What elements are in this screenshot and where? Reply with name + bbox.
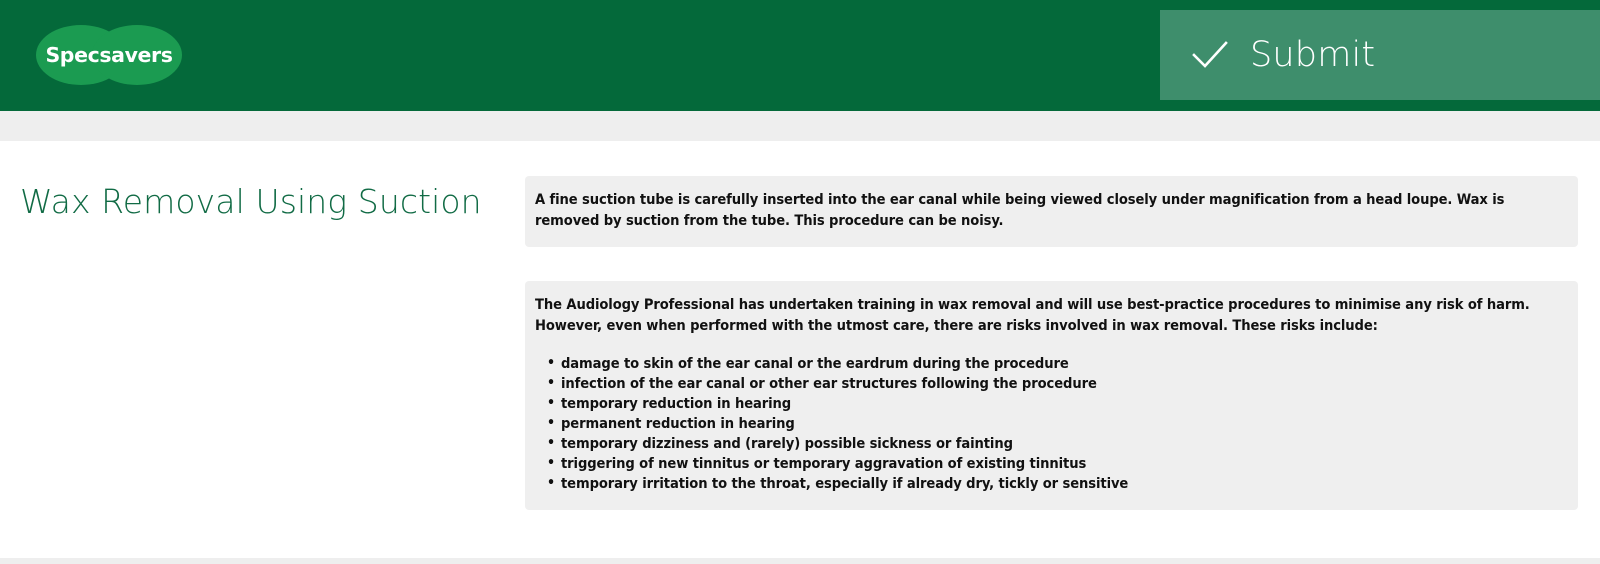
info-panels: A fine suction tube is carefully inserte… bbox=[525, 176, 1578, 510]
main-content: Wax Removal Using Suction A fine suction… bbox=[0, 141, 1600, 558]
specsavers-logo: Specsavers bbox=[36, 25, 182, 85]
list-item: damage to skin of the ear canal or the e… bbox=[561, 354, 1562, 374]
list-item: permanent reduction in hearing bbox=[561, 414, 1562, 434]
list-item: temporary dizziness and (rarely) possibl… bbox=[561, 434, 1562, 454]
risks-box: The Audiology Professional has undertake… bbox=[525, 281, 1578, 509]
list-item: triggering of new tinnitus or temporary … bbox=[561, 454, 1562, 474]
check-icon bbox=[1188, 33, 1232, 77]
logo-wordmark: Specsavers bbox=[36, 25, 182, 85]
list-item: infection of the ear canal or other ear … bbox=[561, 374, 1562, 394]
submit-button[interactable]: Submit bbox=[1160, 10, 1600, 100]
list-item: temporary reduction in hearing bbox=[561, 394, 1562, 414]
footer-strip bbox=[0, 558, 1600, 564]
subheader-strip bbox=[0, 111, 1600, 141]
risks-intro-text: The Audiology Professional has undertake… bbox=[535, 295, 1562, 336]
list-item: temporary irritation to the throat, espe… bbox=[561, 474, 1562, 494]
procedure-description-text: A fine suction tube is carefully inserte… bbox=[535, 190, 1562, 231]
app-header: Specsavers Submit bbox=[0, 0, 1600, 111]
page-title: Wax Removal Using Suction bbox=[20, 183, 500, 221]
submit-button-label: Submit bbox=[1250, 38, 1375, 73]
procedure-description-box: A fine suction tube is carefully inserte… bbox=[525, 176, 1578, 247]
risks-list: damage to skin of the ear canal or the e… bbox=[535, 354, 1562, 494]
